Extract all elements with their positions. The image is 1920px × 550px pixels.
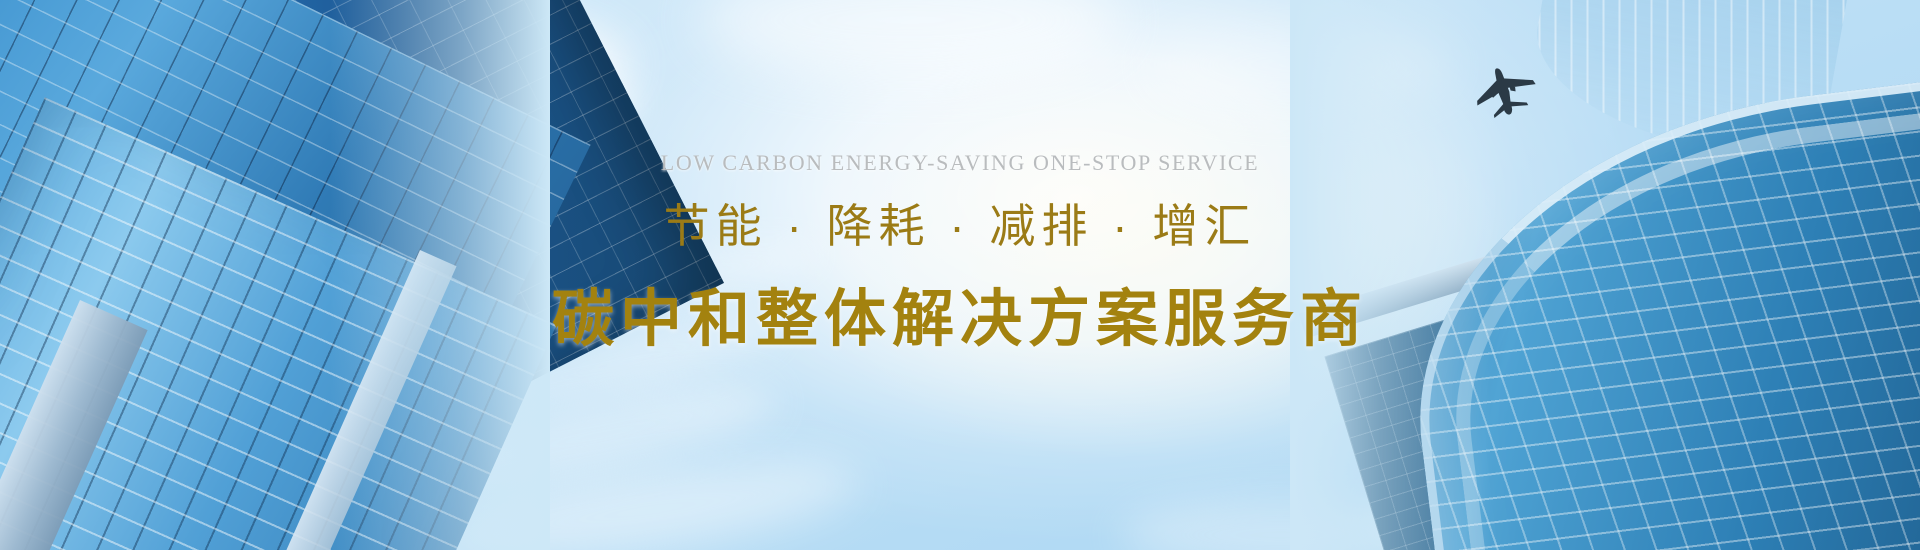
banner-copy: LOW CARBON ENERGY-SAVING ONE-STOP SERVIC… xyxy=(0,150,1920,358)
hero-banner: LOW CARBON ENERGY-SAVING ONE-STOP SERVIC… xyxy=(0,0,1920,550)
banner-headline: 碳中和整体解决方案服务商 xyxy=(0,268,1920,358)
banner-eyebrow: LOW CARBON ENERGY-SAVING ONE-STOP SERVIC… xyxy=(0,150,1920,176)
banner-subtitle: 节能 · 降耗 · 减排 · 增汇 xyxy=(0,190,1920,256)
